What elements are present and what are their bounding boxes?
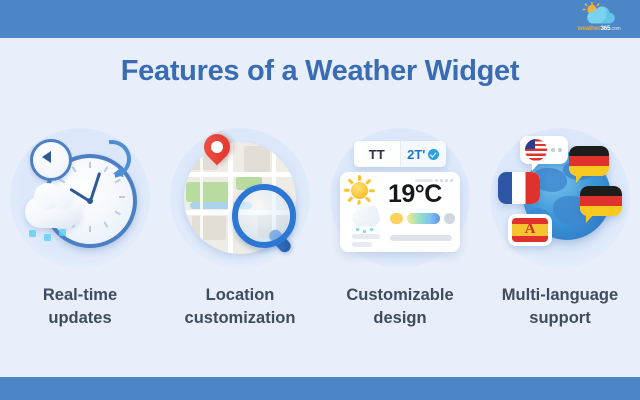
speech-bubble-de-2 [580, 186, 622, 216]
speech-bubble-fr [498, 172, 540, 204]
placeholder-line [352, 234, 380, 239]
feature-label: Location customization [160, 284, 320, 330]
widget-toolbar[interactable]: TT 2T' [354, 141, 446, 167]
color-swatch[interactable] [390, 213, 403, 224]
card-menu-dots-icon [415, 179, 453, 182]
rain-cloud-icon [352, 210, 380, 226]
feature-label-line2: support [480, 307, 640, 330]
speech-bubble-de [569, 146, 609, 176]
magnifier-icon [232, 184, 296, 248]
color-swatch[interactable] [444, 213, 455, 224]
features-row: Real-time updates [0, 128, 640, 358]
feature-customizable-design[interactable]: TT 2T' [320, 128, 480, 330]
check-badge-icon [428, 149, 439, 160]
top-banner-bar [0, 0, 640, 38]
typing-dots-icon [551, 148, 562, 152]
feature-icon-circle: A [490, 128, 630, 268]
feature-label: Real-time updates [0, 284, 160, 330]
feature-label-line1: Multi-language [480, 284, 640, 307]
feature-multi-language-support[interactable]: A Multi-language support [480, 128, 640, 330]
logo-domain: .com [610, 26, 620, 32]
feature-real-time-updates[interactable]: Real-time updates [0, 128, 160, 330]
toolbar-style-label: 2T' [407, 147, 425, 162]
weather-widget-card[interactable]: 19°C [340, 172, 460, 252]
united-states-flag [525, 139, 547, 161]
infographic-page: weather365.com Features of a Weather Wid… [0, 0, 640, 400]
gradient-swatch[interactable] [407, 213, 440, 224]
germany-flag [580, 186, 622, 216]
feature-label-line1: Location [160, 284, 320, 307]
page-title: Features of a Weather Widget [0, 55, 640, 88]
sun-icon [351, 182, 368, 199]
rewind-arrow-icon [30, 139, 72, 181]
toolbar-font-button[interactable]: TT [354, 141, 400, 167]
feature-location-customization[interactable]: Location customization [160, 128, 320, 330]
feature-label-line1: Real-time [0, 284, 160, 307]
placeholder-line [352, 242, 372, 247]
feature-label: Customizable design [320, 284, 480, 330]
logo-wordmark: weather365.com [566, 25, 632, 33]
feature-icon-circle [170, 128, 310, 268]
feature-label-line2: customization [160, 307, 320, 330]
speech-bubble-us [520, 136, 568, 164]
bottom-banner-bar [0, 377, 640, 400]
placeholder-line [390, 235, 452, 241]
toolbar-font-label: TT [369, 147, 385, 162]
feature-label-line2: updates [0, 307, 160, 330]
feature-icon-circle [10, 128, 150, 268]
letter-a-glyph: A [525, 221, 536, 238]
rain-cloud-icon [25, 196, 81, 228]
weather365-logo[interactable]: weather365.com [566, 1, 632, 37]
temperature-value: 19°C [388, 180, 442, 209]
germany-flag [569, 146, 609, 176]
toolbar-style-button[interactable]: 2T' [400, 141, 447, 167]
france-flag [498, 172, 540, 204]
logo-number: 365 [600, 25, 610, 32]
speech-bubble-es: A [508, 214, 552, 246]
feature-label: Multi-language support [480, 284, 640, 330]
logo-brand: weather [578, 25, 601, 32]
feature-label-line2: design [320, 307, 480, 330]
feature-label-line1: Customizable [320, 284, 480, 307]
spain-flag: A [512, 218, 548, 242]
feature-icon-circle: TT 2T' [330, 128, 470, 268]
sun-cloud-icon [580, 2, 622, 26]
